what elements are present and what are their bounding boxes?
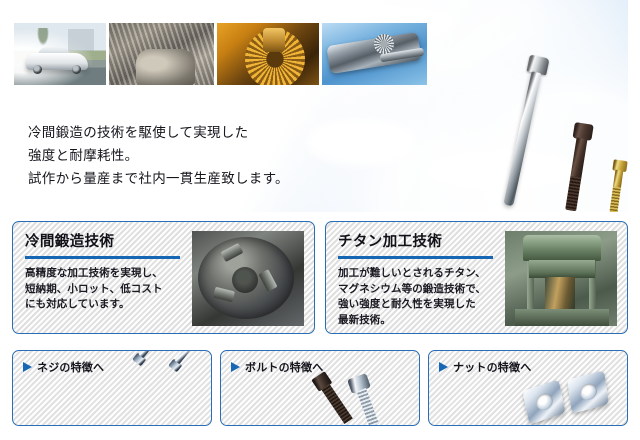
nut-graphic bbox=[567, 370, 609, 413]
press-crown-detail bbox=[523, 235, 601, 261]
panel-title-rule bbox=[25, 256, 180, 259]
panel-body-line: 高精度な加工技術を実現し、 bbox=[25, 266, 185, 282]
sports-car-photo bbox=[14, 23, 106, 85]
panel-body-line: 短納期、小ロット、低コスト bbox=[25, 282, 185, 298]
page-root: 冷間鍛造の技術を駆使して実現した 強度と耐摩耗性。 試作から量産まで社内一貫生産… bbox=[0, 0, 640, 440]
car-wheel-detail bbox=[33, 65, 42, 74]
tree-detail bbox=[36, 28, 50, 48]
bolt-thread bbox=[321, 384, 353, 424]
panel-titanium-machining[interactable]: チタン加工技術 加工が難しいとされるチタン、 マグネシウム等の鍛造技術で、 強い… bbox=[325, 221, 628, 334]
triangle-right-icon bbox=[439, 362, 448, 372]
panel-body-line: マグネシウム等の鍛造技術で、 bbox=[338, 282, 498, 298]
factory-detail bbox=[68, 29, 94, 51]
hero-headline: 冷間鍛造の技術を駆使して実現した 強度と耐摩耗性。 試作から量産まで社内一貫生産… bbox=[28, 122, 289, 191]
press-base-detail bbox=[515, 309, 609, 326]
hero-headline-line-3: 試作から量産まで社内一貫生産致します。 bbox=[28, 168, 289, 191]
panel-body-line: 加工が難しいとされるチタン、 bbox=[338, 266, 498, 282]
screw-shank bbox=[175, 350, 212, 365]
forging-press-photo bbox=[505, 231, 617, 326]
link-label: ナットの特徴へ bbox=[439, 359, 531, 375]
hero-photo-strip bbox=[14, 23, 427, 85]
panel-title: チタン加工技術 bbox=[338, 230, 442, 251]
panel-title: 冷間鍛造技術 bbox=[25, 230, 114, 251]
panel-body-line: 強い強度と耐久性を実現した bbox=[338, 297, 498, 313]
panel-title-rule bbox=[338, 256, 493, 259]
medium-dark-bolt bbox=[561, 122, 594, 212]
nut-graphic bbox=[522, 379, 565, 424]
bolt-thread bbox=[609, 186, 621, 212]
long-chrome-bolt bbox=[498, 55, 549, 208]
cloud-decoration bbox=[306, 118, 416, 166]
gear-hub-detail bbox=[263, 28, 285, 52]
link-card-bolts[interactable]: ボルトの特徴へ bbox=[220, 350, 420, 426]
bolt-shank bbox=[570, 137, 587, 178]
panel-cold-forging[interactable]: 冷間鍛造技術 高精度な加工技術を実現し、 短納期、小ロット、低コスト にも対応し… bbox=[12, 221, 315, 334]
golden-gear-photo bbox=[217, 23, 319, 85]
product-link-cards: ネジの特徴へ ボルトの特徴へ bbox=[12, 350, 628, 426]
panel-body-line: 最新技術。 bbox=[338, 313, 498, 329]
helical-gears-photo bbox=[109, 23, 214, 85]
panel-body-line: にも対応しています。 bbox=[25, 297, 185, 313]
screw-graphic bbox=[168, 350, 212, 372]
hero-banner: 冷間鍛造の技術を駆使して実現した 強度と耐摩耗性。 試作から量産まで社内一貫生産… bbox=[6, 0, 628, 212]
link-label: ボルトの特徴へ bbox=[231, 359, 323, 375]
short-brass-bolt bbox=[606, 159, 627, 212]
triangle-right-icon bbox=[231, 362, 240, 372]
press-ram-detail bbox=[545, 277, 575, 311]
link-label: ネジの特徴へ bbox=[23, 359, 104, 375]
page-bottom-margin bbox=[0, 432, 640, 440]
hero-headline-line-1: 冷間鍛造の技術を駆使して実現した bbox=[28, 122, 289, 145]
page-left-margin bbox=[0, 0, 6, 440]
page-right-margin bbox=[634, 0, 640, 440]
link-text: ボルトの特徴へ bbox=[245, 359, 323, 375]
lathe-chuck-photo bbox=[192, 231, 304, 326]
feature-panels: 冷間鍛造技術 高精度な加工技術を実現し、 短納期、小ロット、低コスト にも対応し… bbox=[12, 221, 628, 334]
bolt-thread bbox=[565, 176, 581, 211]
link-card-screws[interactable]: ネジの特徴へ bbox=[12, 350, 212, 426]
link-text: ネジの特徴へ bbox=[37, 359, 104, 375]
panel-body: 加工が難しいとされるチタン、 マグネシウム等の鍛造技術で、 強い強度と耐久性を実… bbox=[338, 266, 498, 328]
link-card-nuts[interactable]: ナットの特徴へ bbox=[428, 350, 628, 426]
transmission-photo bbox=[322, 23, 427, 85]
press-body-detail bbox=[529, 260, 595, 278]
transmission-gear-detail bbox=[374, 34, 394, 54]
bolt-thread bbox=[357, 388, 379, 426]
triangle-right-icon bbox=[23, 362, 32, 372]
hero-headline-line-2: 強度と耐摩耗性。 bbox=[28, 145, 289, 168]
link-text: ナットの特徴へ bbox=[453, 359, 531, 375]
chuck-bore-detail bbox=[232, 267, 258, 293]
car-wheel-detail bbox=[72, 65, 81, 74]
panel-body: 高精度な加工技術を実現し、 短納期、小ロット、低コスト にも対応しています。 bbox=[25, 266, 185, 313]
cloud-decoration bbox=[426, 150, 576, 190]
bolt-shank bbox=[503, 71, 541, 206]
